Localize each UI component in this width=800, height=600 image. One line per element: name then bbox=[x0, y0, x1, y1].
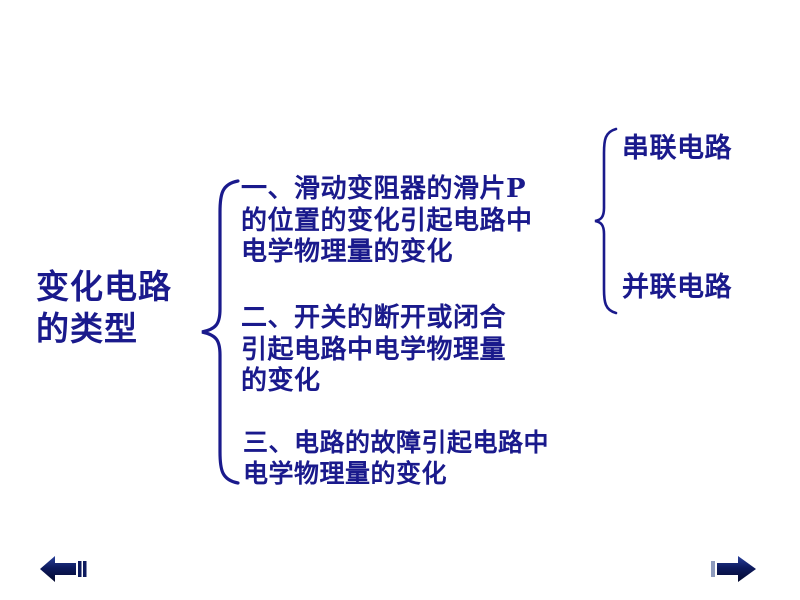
right-curly-brace-icon bbox=[592, 126, 622, 316]
left-arrow-icon[interactable] bbox=[38, 552, 92, 586]
slide-canvas: 变化电路 的类型 一、滑动变阻器的滑片P 的位置的变化引起电路中 电学物理量的变… bbox=[0, 0, 800, 600]
root-node-label: 变化电路 的类型 bbox=[36, 266, 172, 350]
branch-item-1-label: 一、滑动变阻器的滑片P 的位置的变化引起电路中 电学物理量的变化 bbox=[241, 174, 533, 269]
main-curly-brace-icon bbox=[198, 178, 244, 486]
leaf-series-circuit-label: 串联电路 bbox=[622, 133, 732, 166]
branch-item-3-label: 三、电路的故障引起电路中 电学物理量的变化 bbox=[243, 428, 549, 489]
branch-item-2-label: 二、开关的断开或闭合 引起电路中电学物理量 的变化 bbox=[241, 303, 506, 398]
right-arrow-icon[interactable] bbox=[706, 552, 760, 586]
leaf-parallel-circuit-label: 并联电路 bbox=[622, 272, 732, 305]
